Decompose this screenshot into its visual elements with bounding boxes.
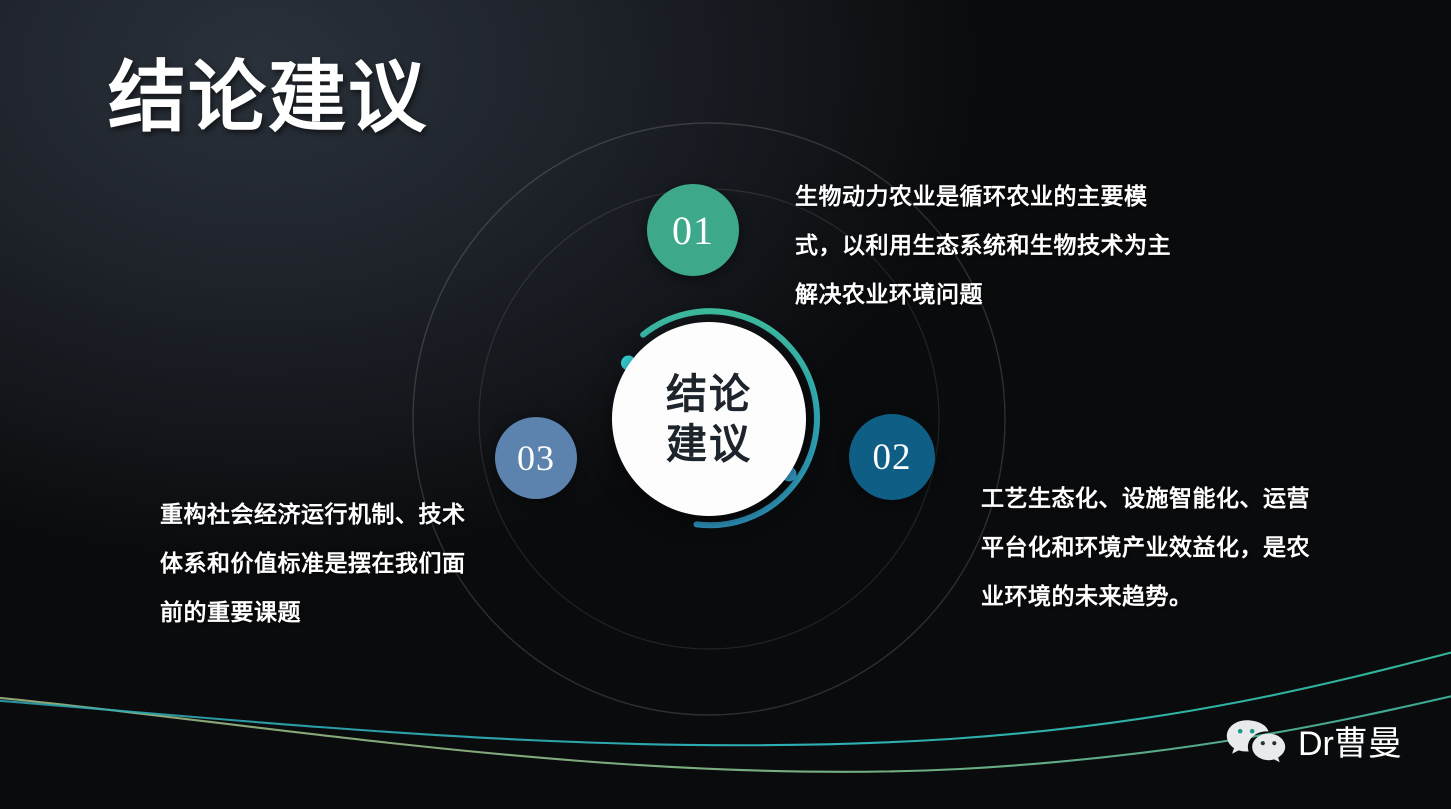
description-01: 生物动力农业是循环农业的主要模式，以利用生态系统和生物技术为主解决农业环境问题: [795, 172, 1175, 319]
orbit-diagram: 结论 建议 01 02 03: [0, 0, 1451, 809]
node-02[interactable]: 02: [849, 414, 935, 500]
footer-brand: Dr曹曼: [1224, 716, 1402, 765]
node-01-label: 01: [672, 207, 714, 254]
node-01[interactable]: 01: [647, 184, 739, 276]
center-label-line1: 结论: [666, 369, 752, 419]
description-02: 工艺生态化、设施智能化、运营平台化和环境产业效益化，是农业环境的未来趋势。: [981, 474, 1311, 621]
wechat-icon: [1224, 718, 1288, 764]
center-circle[interactable]: 结论 建议: [612, 322, 806, 516]
node-02-label: 02: [873, 436, 912, 479]
node-03-label: 03: [517, 437, 555, 479]
node-03[interactable]: 03: [495, 417, 577, 499]
description-03: 重构社会经济运行机制、技术体系和价值标准是摆在我们面前的重要课题: [160, 490, 480, 637]
slide-canvas: 结论建议 结论 建议 01 02 03 生物动力农业是循环农业的主要模式，以利用…: [0, 0, 1451, 809]
center-label-line2: 建议: [666, 419, 752, 469]
footer-brand-label: Dr曹曼: [1298, 716, 1402, 765]
